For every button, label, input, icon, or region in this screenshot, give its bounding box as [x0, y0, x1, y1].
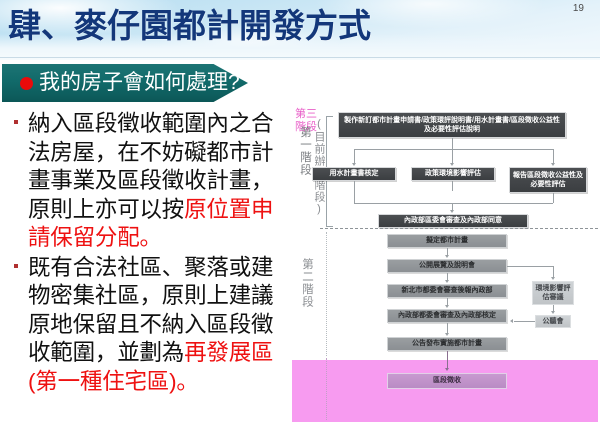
- connector-line: [354, 149, 355, 164]
- question-banner-label: 我的房子會如何處理?: [39, 72, 240, 94]
- list-item: 納入區段徵收範圍內之合法房屋，在不妨礙都市計畫事業及區段徵收計畫，原則上亦可以按…: [6, 110, 292, 253]
- connector-line: [354, 203, 553, 204]
- flow-box-moi-approve: 內政部都委會審查及內政部核定: [387, 309, 507, 323]
- list-item: 既有合法社區、聚落或建物密集社區，原則上建議原地保留且不納入區段徵收範圍，並劃為…: [6, 254, 292, 397]
- arrow-icon: [445, 280, 449, 283]
- bullet-text: 既有合法社區、聚落或建物密集社區，原則上建議原地保留且不納入區段徵收範圍，並劃為…: [28, 254, 292, 397]
- flow-box-announce: 公告發布實施都市計畫: [387, 337, 507, 351]
- bullet-text: 納入區段徵收範圍內之合法房屋，在不妨礙都市計畫事業及區段徵收計畫，原則上亦可以按…: [28, 110, 292, 253]
- flow-box-water-plan: 用水計畫書核定: [312, 167, 396, 181]
- connector-line: [553, 193, 554, 203]
- connector-line: [507, 266, 553, 267]
- flow-box-public-interest: 報告區段徵收公益性及必要性評估: [509, 167, 587, 193]
- stage-2-bracket: [326, 232, 327, 356]
- arrow-icon: [510, 319, 513, 323]
- arrow-icon: [551, 163, 555, 166]
- arrow-icon: [450, 163, 454, 166]
- arrow-icon: [450, 210, 454, 213]
- stage-2-label: 第二階段: [300, 258, 313, 308]
- connector-line: [452, 149, 453, 164]
- bullet-marker-icon: [14, 120, 18, 124]
- question-banner: 我的房子會如何處理?: [2, 64, 248, 102]
- flow-box-draft-plan: 擬定都市計畫: [387, 234, 507, 248]
- red-dot-icon: [20, 77, 33, 90]
- page-number: 19: [573, 3, 584, 14]
- arrow-icon: [352, 163, 356, 166]
- connector-line: [447, 351, 448, 369]
- bullet-marker-icon: [14, 264, 18, 268]
- arrow-icon: [551, 311, 555, 314]
- title-banner-divider: [0, 57, 600, 58]
- flow-box-eia-review: 環境影響評估審議: [532, 281, 574, 305]
- connector-line: [354, 181, 355, 203]
- arrow-icon: [445, 255, 449, 258]
- arrow-icon: [445, 305, 449, 308]
- connector-line: [514, 321, 535, 322]
- stage-3-bracket: [326, 358, 327, 420]
- flow-box-ntpc-review: 新北市都委會審查後報內政部: [387, 284, 507, 298]
- connector-line: [354, 149, 553, 150]
- arrow-icon: [445, 333, 449, 336]
- arrow-icon: [445, 368, 449, 371]
- connector-line: [452, 138, 453, 149]
- stage-divider: [320, 228, 598, 229]
- connector-line: [553, 149, 554, 164]
- flow-box-policy-eia: 政策環境影響評估: [411, 167, 495, 181]
- page-title: 肆、麥仔園都計開發方式: [8, 3, 371, 49]
- slide-canvas: 肆、麥仔園都計開發方式 19 我的房子會如何處理? 納入區段徵收範圍內之合法房屋…: [0, 0, 600, 424]
- flow-box-hearing: 公聽會: [535, 315, 571, 328]
- flow-box-apply: 製作新訂都市計畫申請書/政策環評說明書/用水計畫書/區段徵收公益性及必要性評估說…: [338, 112, 566, 138]
- development-process-flowchart: (目前辦理階段) 第一階段 第二階段 第三階段 製作新訂都市計畫申請書/政策環評…: [292, 108, 598, 422]
- connector-line: [452, 181, 453, 191]
- arrow-icon: [551, 277, 555, 280]
- flow-box-public-display: 公開展覽及說明會: [387, 259, 507, 273]
- bullet-list: 納入區段徵收範圍內之合法房屋，在不妨礙都市計畫事業及區段徵收計畫，原則上亦可以按…: [6, 110, 292, 422]
- stage-1-label: 第一階段: [298, 126, 311, 176]
- flow-box-zone-expropriation: 區段徵收: [387, 373, 507, 389]
- flow-box-moi-review: 內政部區委會審查及內政部同意: [378, 214, 528, 228]
